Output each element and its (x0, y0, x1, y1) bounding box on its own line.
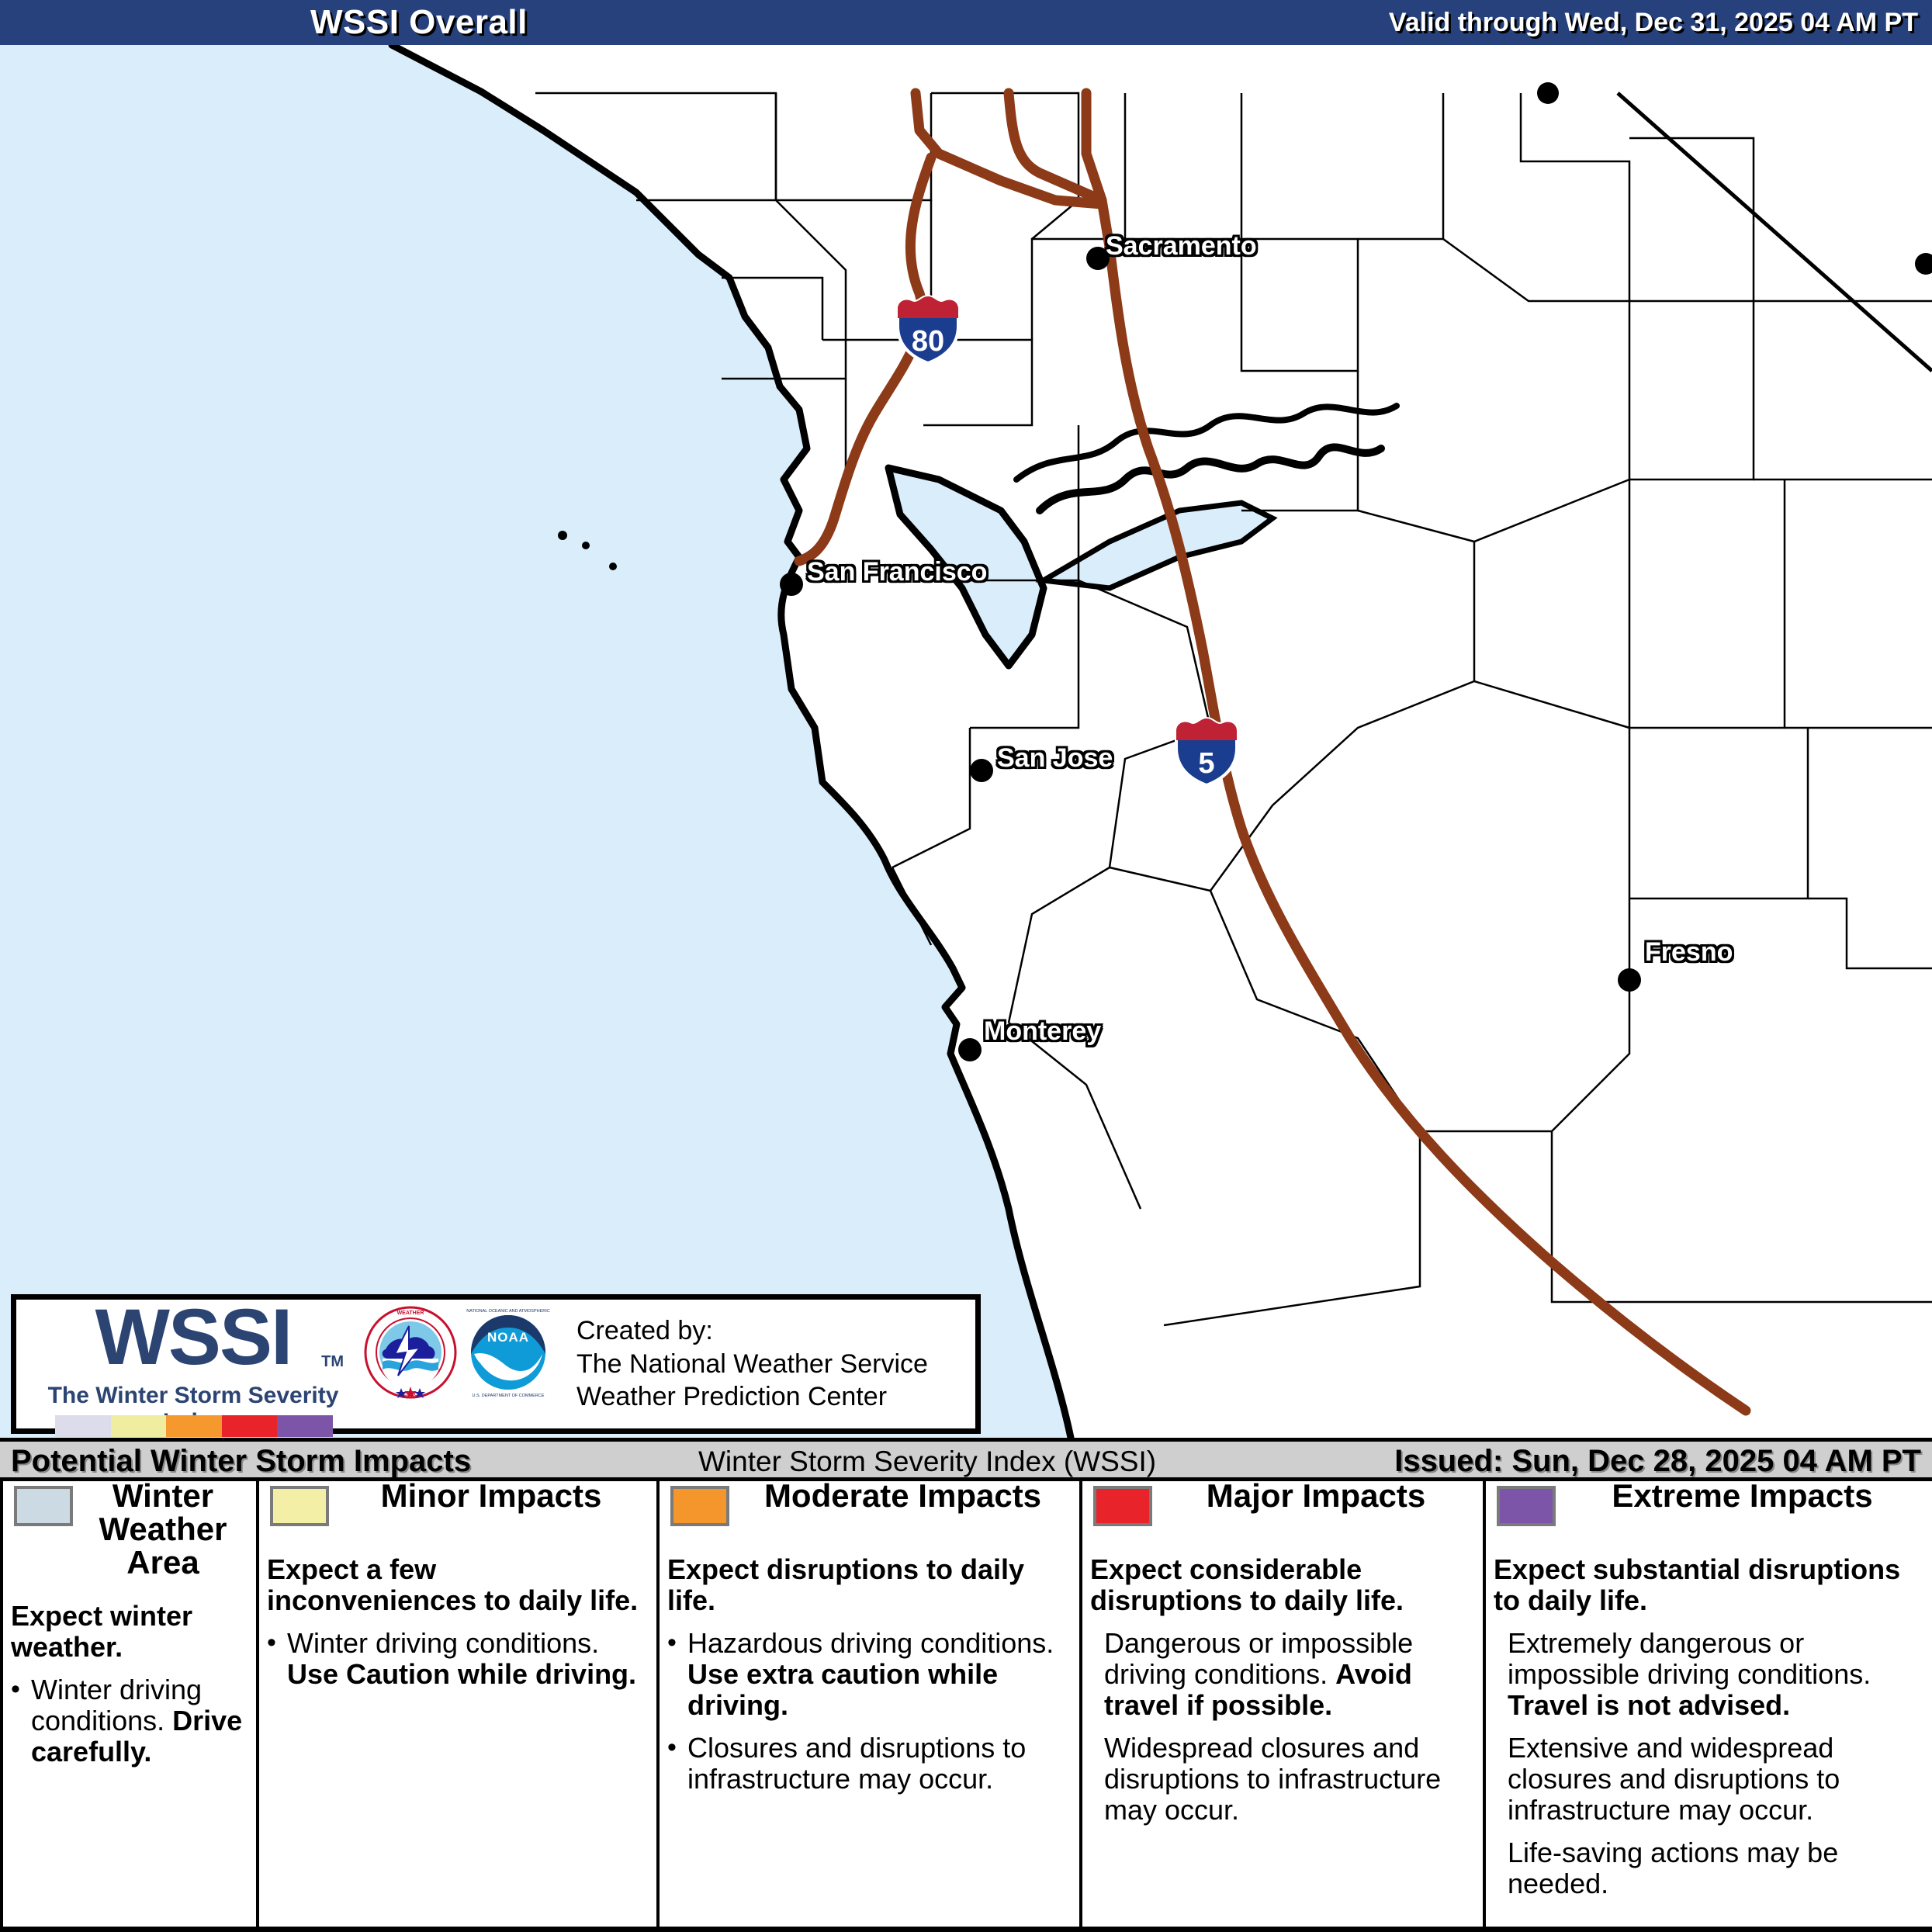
credit-line-1: Created by: (576, 1314, 928, 1348)
legend-column-major-impacts[interactable]: Major Impacts Expect considerable disrup… (1079, 1481, 1483, 1927)
legend-swatch-moderate-impacts (670, 1486, 729, 1526)
legend-lead-winter-weather-area: Expect winter weather. (11, 1601, 248, 1664)
legend-header: Minor Impacts (267, 1481, 649, 1553)
legend-column-winter-weather-area[interactable]: Winter Weather Area Expect winter weathe… (0, 1481, 256, 1927)
city-dot-fresno (1618, 968, 1641, 992)
legend-bullet: •Hazardous driving conditions. Use extra… (667, 1628, 1072, 1722)
bullet-normal: Winter driving conditions. (287, 1627, 599, 1659)
impacts-bar-subtitle: Winter Storm Severity Index (WSSI) (698, 1446, 1156, 1478)
legend-title-winter-weather-area: Winter Weather Area (78, 1480, 248, 1579)
bullet-normal: Hazardous driving conditions. (687, 1627, 1054, 1659)
bullet-normal: Closures and disruptions to infrastructu… (687, 1732, 1026, 1795)
legend-bullet: •Winter driving conditions. Use Caution … (267, 1628, 649, 1691)
svg-text:80: 80 (912, 325, 944, 358)
credit-block: Created by: The National Weather Service… (576, 1314, 928, 1414)
legend-bullets-minor-impacts: •Winter driving conditions. Use Caution … (267, 1628, 649, 1691)
impact-legend: Winter Weather Area Expect winter weathe… (0, 1481, 1932, 1932)
agency-logos: WEATHER SERVICE (364, 1306, 558, 1422)
wssi-logo-tm: TM (321, 1353, 344, 1371)
svg-text:U.S. DEPARTMENT OF COMMERCE: U.S. DEPARTMENT OF COMMERCE (473, 1394, 545, 1398)
impacts-bar-title: Potential Winter Storm Impacts (11, 1444, 471, 1479)
svg-text:WEATHER: WEATHER (397, 1311, 424, 1316)
legend-title-moderate-impacts: Moderate Impacts (734, 1480, 1072, 1513)
legend-bullet: •Life-saving actions may be needed. (1494, 1837, 1924, 1900)
city-dot-monterey (958, 1038, 982, 1061)
legend-bullet: •Dangerous or impossible driving conditi… (1090, 1628, 1475, 1722)
page-header: WSSI Overall Valid through Wed, Dec 31, … (0, 0, 1932, 45)
legend-column-extreme-impacts[interactable]: Extreme Impacts Expect substantial disru… (1483, 1481, 1932, 1927)
wssi-info-box: WSSI TM The Winter Storm Severity Index … (11, 1294, 981, 1434)
valid-through-label: Valid through Wed, Dec 31, 2025 04 AM PT (1389, 8, 1918, 38)
legend-title-major-impacts: Major Impacts (1157, 1480, 1475, 1513)
noaa-logo: NOAA NATIONAL OCEANIC AND ATMOSPHERIC U.… (462, 1306, 555, 1399)
legend-bullet: •Extensive and widespread closures and d… (1494, 1733, 1924, 1826)
legend-title-minor-impacts: Minor Impacts (334, 1480, 649, 1513)
page-title: WSSI Overall (310, 3, 528, 42)
legend-bullets-extreme-impacts: •Extremely dangerous or impossible drivi… (1494, 1628, 1924, 1900)
legend-lead-moderate-impacts: Expect disruptions to daily life. (667, 1554, 1072, 1617)
bullet-normal: Life-saving actions may be needed. (1508, 1837, 1838, 1899)
legend-column-moderate-impacts[interactable]: Moderate Impacts Expect disruptions to d… (656, 1481, 1079, 1927)
national-weather-service-logo: WEATHER SERVICE (364, 1306, 457, 1399)
legend-lead-extreme-impacts: Expect substantial disruptions to daily … (1494, 1554, 1924, 1617)
impacts-bar: Potential Winter Storm Impacts Winter St… (0, 1438, 1932, 1481)
legend-bullets-major-impacts: •Dangerous or impossible driving conditi… (1090, 1628, 1475, 1826)
bullet-normal: Extremely dangerous or impossible drivin… (1508, 1627, 1871, 1690)
legend-header: Extreme Impacts (1494, 1481, 1924, 1553)
legend-header: Moderate Impacts (667, 1481, 1072, 1553)
city-label-san-francisco: San Francisco (807, 557, 987, 587)
legend-swatch-minor-impacts (270, 1486, 329, 1526)
bullet-bold: Travel is not advised. (1508, 1689, 1790, 1721)
legend-lead-major-impacts: Expect considerable disruptions to daily… (1090, 1554, 1475, 1617)
legend-bullet: •Closures and disruptions to infrastruct… (667, 1733, 1072, 1795)
legend-header: Major Impacts (1090, 1481, 1475, 1553)
city-dot-san-jose (970, 759, 993, 782)
bullet-normal: Widespread closures and disruptions to i… (1104, 1732, 1441, 1826)
wssi-logo-color-bar (55, 1415, 333, 1437)
wssi-map-page: WSSI Overall Valid through Wed, Dec 31, … (0, 0, 1932, 1932)
credit-line-3: Weather Prediction Center (576, 1380, 928, 1414)
city-dot-san-francisco (780, 573, 803, 596)
legend-lead-minor-impacts: Expect a few inconveniences to daily lif… (267, 1554, 649, 1617)
legend-bullet: •Winter driving conditions. Drive carefu… (11, 1674, 248, 1768)
wssi-logo: WSSI TM The Winter Storm Severity Index (38, 1302, 348, 1426)
legend-swatch-winter-weather-area (14, 1486, 73, 1526)
credit-line-2: The National Weather Service (576, 1348, 928, 1381)
city-label-monterey: Monterey (984, 1016, 1101, 1047)
bullet-normal: Extensive and widespread closures and di… (1508, 1732, 1840, 1826)
legend-bullet: •Widespread closures and disruptions to … (1090, 1733, 1475, 1826)
legend-swatch-major-impacts (1093, 1486, 1152, 1526)
legend-title-extreme-impacts: Extreme Impacts (1560, 1480, 1924, 1513)
svg-text:NOAA: NOAA (487, 1330, 529, 1345)
svg-text:NATIONAL OCEANIC AND ATMOSPHER: NATIONAL OCEANIC AND ATMOSPHERIC (466, 1309, 549, 1314)
svg-text:5: 5 (1198, 747, 1214, 780)
legend-bullets-winter-weather-area: •Winter driving conditions. Drive carefu… (11, 1674, 248, 1768)
city-label-san-jose: San Jose (997, 743, 1113, 774)
map-canvas[interactable]: 80 5 Sacramento San Francisco San Jose F… (0, 45, 1932, 1438)
city-label-sacramento: Sacramento (1106, 231, 1257, 261)
legend-bullets-moderate-impacts: •Hazardous driving conditions. Use extra… (667, 1628, 1072, 1795)
bullet-bold: Use extra caution while driving. (687, 1658, 998, 1721)
bullet-bold: Use Caution while driving. (287, 1658, 636, 1690)
legend-bullet: •Extremely dangerous or impossible drivi… (1494, 1628, 1924, 1722)
city-label-fresno: Fresno (1645, 937, 1733, 968)
map-geometry (0, 45, 1932, 1438)
legend-swatch-extreme-impacts (1497, 1486, 1556, 1526)
wssi-logo-text: WSSI (38, 1297, 348, 1376)
issued-label: Issued: Sun, Dec 28, 2025 04 AM PT (1394, 1444, 1921, 1479)
legend-column-minor-impacts[interactable]: Minor Impacts Expect a few inconvenience… (256, 1481, 656, 1927)
legend-header: Winter Weather Area (11, 1481, 248, 1553)
